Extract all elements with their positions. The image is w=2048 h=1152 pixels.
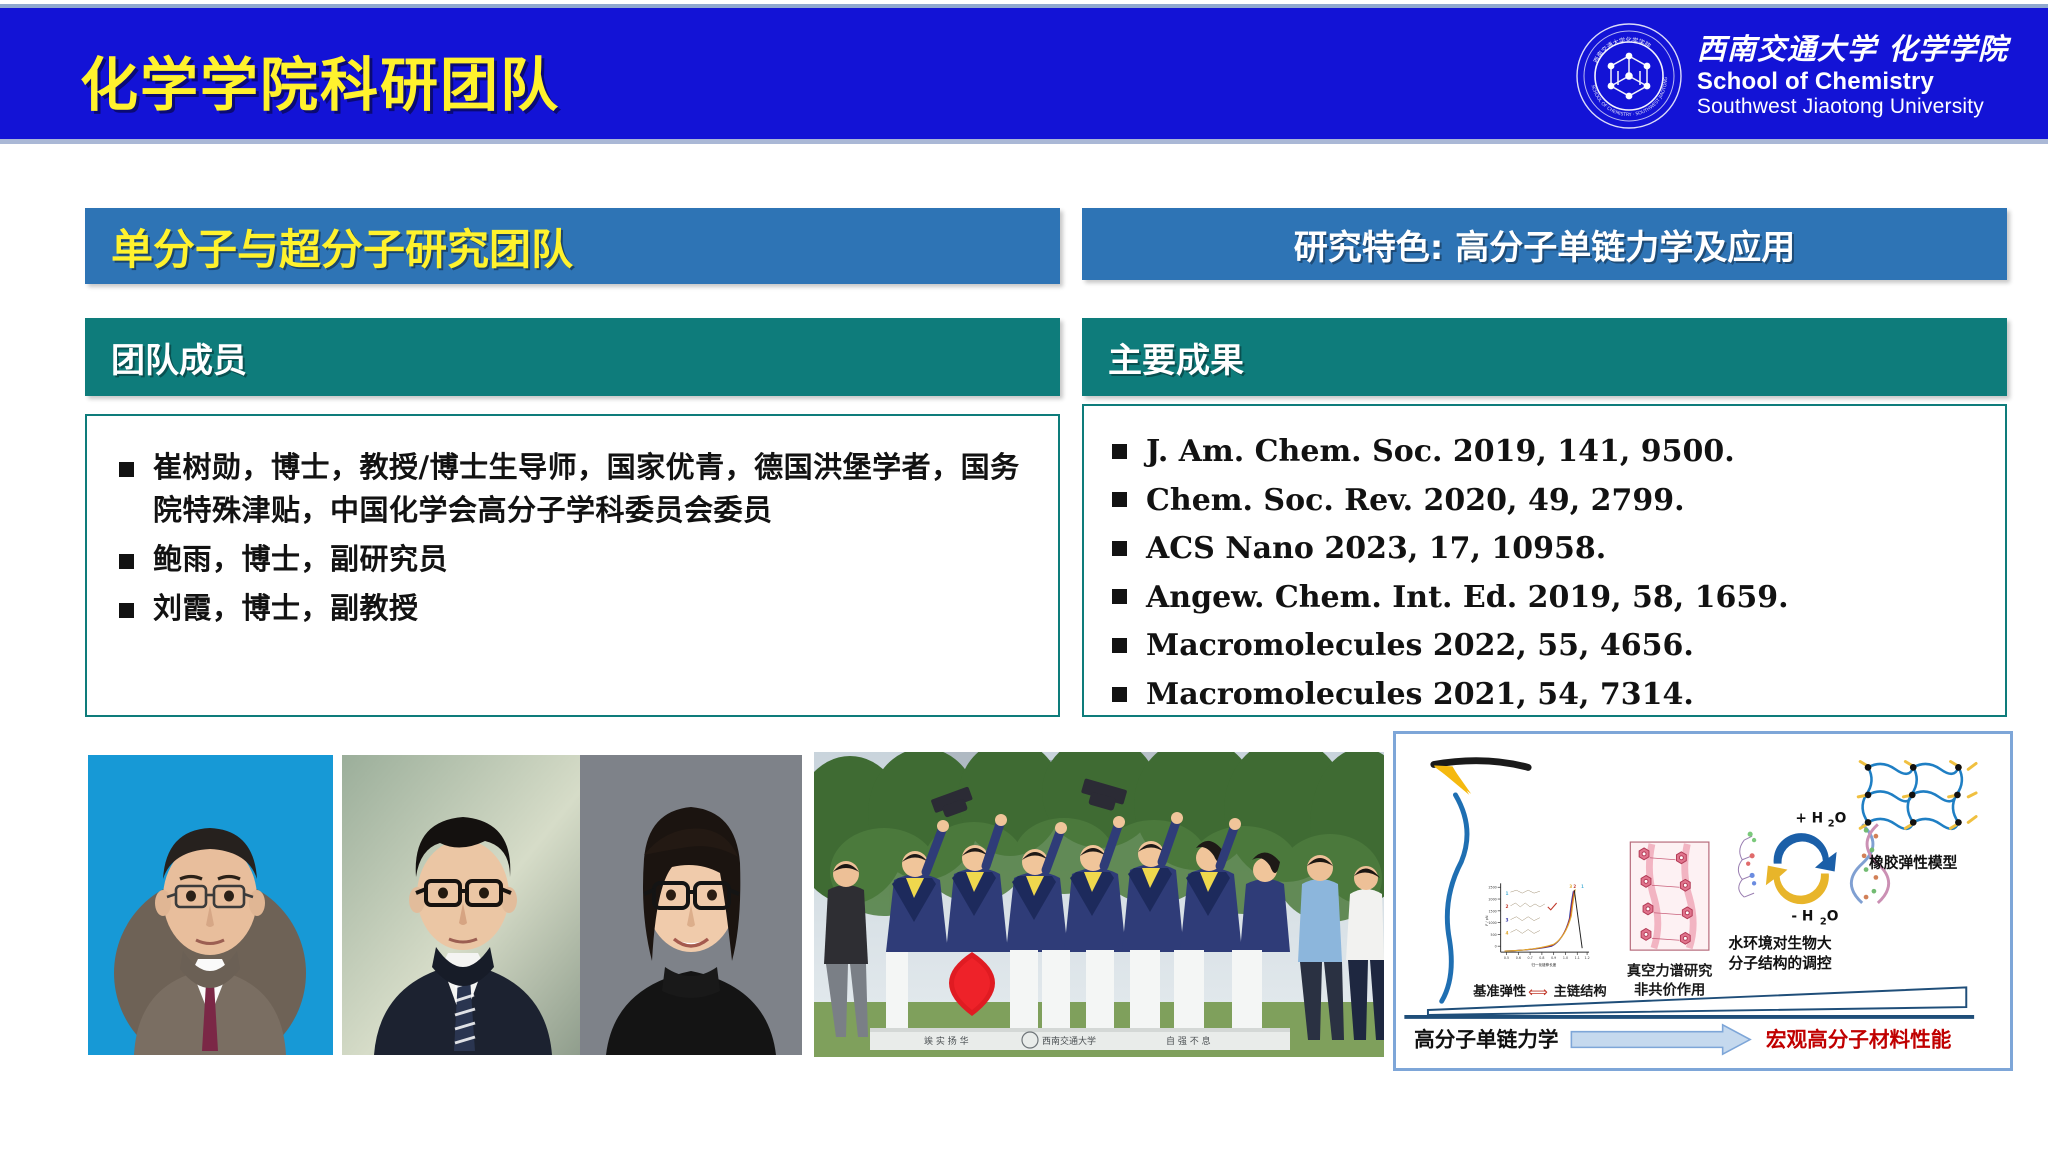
svg-text:1500: 1500 xyxy=(1488,909,1496,913)
portrait-liu-xia xyxy=(580,755,802,1055)
svg-text:F / pN: F / pN xyxy=(1485,915,1489,926)
label-arrow-sym: ⟺ xyxy=(1528,984,1548,1000)
results-header-label: 主要成果 xyxy=(1082,333,1244,382)
label-vacuum-line1: 真空力谱研究 xyxy=(1627,962,1712,980)
svg-text:3: 3 xyxy=(1569,884,1572,889)
publications-list: J. Am. Chem. Soc. 2019, 141, 9500. Chem.… xyxy=(1100,428,2005,720)
page-title: 化学学院科研团队 xyxy=(80,38,560,122)
svg-text:0: 0 xyxy=(1495,945,1497,949)
label-water-minus: - H xyxy=(1791,909,1813,925)
svg-text:2: 2 xyxy=(1828,818,1835,829)
members-header-label: 团队成员 xyxy=(85,333,247,382)
svg-text:2: 2 xyxy=(1820,917,1827,928)
label-rubber-model: 橡胶弹性模型 xyxy=(1869,854,1958,872)
svg-text:0.6: 0.6 xyxy=(1516,956,1521,960)
label-water-line2: 分子结构的调控 xyxy=(1729,954,1832,972)
svg-text:1000: 1000 xyxy=(1488,921,1496,925)
svg-text:0.5: 0.5 xyxy=(1504,956,1509,960)
label-backbone: 主链结构 xyxy=(1554,982,1607,999)
svg-text:O: O xyxy=(1835,810,1847,826)
team-title-label: 单分子与超分子研究团队 xyxy=(85,216,573,277)
logo-english-university: Southwest Jiaotong University xyxy=(1697,96,2008,118)
svg-text:SCHOOL OF CHEMISTRY · SOUTHWES: SCHOOL OF CHEMISTRY · SOUTHWEST JIAOTONG… xyxy=(1575,22,1669,118)
svg-text:1: 1 xyxy=(1506,891,1509,897)
list-item: Chem. Soc. Rev. 2020, 49, 2799. xyxy=(1100,477,2005,526)
label-water-line1: 水环境对生物大 xyxy=(1729,934,1832,952)
logo-english-school: School of Chemistry xyxy=(1697,69,2008,94)
svg-text:1.2: 1.2 xyxy=(1585,956,1590,960)
label-vacuum-line2: 非共价作用 xyxy=(1634,980,1705,998)
svg-text:0.7: 0.7 xyxy=(1528,956,1533,960)
svg-text:1.1: 1.1 xyxy=(1575,956,1580,960)
group-photo-graduation: 竢 实 扬 华 西南交通大学 自 强 不 息 xyxy=(814,752,1384,1057)
progression-arrow-icon xyxy=(1571,1025,1750,1054)
svg-text:2500: 2500 xyxy=(1488,886,1496,890)
svg-text:2: 2 xyxy=(1506,904,1509,910)
publications-panel: J. Am. Chem. Soc. 2019, 141, 9500. Chem.… xyxy=(1082,404,2007,717)
list-item: 崔树勋，博士，教授/博士生导师，国家优青，德国洪堡学者，国务院特殊津贴，中国化学… xyxy=(107,446,1036,532)
sign-motto-right: 自 强 不 息 xyxy=(1166,1035,1211,1047)
list-item: Angew. Chem. Int. Ed. 2019, 58, 1659. xyxy=(1100,574,2005,623)
members-header-bar: 团队成员 xyxy=(85,318,1060,396)
university-logo: 西南交通大学化学学院 SCHOOL OF CHEMISTRY · SOUTHWE… xyxy=(1575,22,2008,130)
list-item: 鲍雨，博士，副研究员 xyxy=(107,538,1036,581)
logo-chinese-name: 西南交通大学 化学学院 xyxy=(1697,34,2008,64)
team-members-panel: 崔树勋，博士，教授/博士生导师，国家优青，德国洪堡学者，国务院特殊津贴，中国化学… xyxy=(85,414,1060,717)
svg-text:1: 1 xyxy=(1581,884,1584,889)
results-header-bar: 主要成果 xyxy=(1082,318,2007,396)
svg-text:500: 500 xyxy=(1491,933,1497,937)
svg-text:3: 3 xyxy=(1506,918,1509,924)
page-banner: 化学学院科研团队 西南交通大学化 xyxy=(0,4,2048,144)
list-item: 刘霞，博士，副教授 xyxy=(107,587,1036,630)
sign-motto-left: 竢 实 扬 华 xyxy=(924,1035,969,1047)
portrait-bao-yu xyxy=(342,755,585,1055)
svg-text:归一化链伸长度: 归一化链伸长度 xyxy=(1532,962,1557,967)
list-item: J. Am. Chem. Soc. 2019, 141, 9500. xyxy=(1100,428,2005,477)
team-members-list: 崔树勋，博士，教授/博士生导师，国家优青，德国洪堡学者，国务院特殊津贴，中国化学… xyxy=(107,446,1036,630)
list-item: Macromolecules 2022, 55, 4656. xyxy=(1100,622,2005,671)
svg-text:4: 4 xyxy=(1506,930,1509,936)
research-feature-bar: 研究特色: 高分子单链力学及应用 xyxy=(1082,208,2007,280)
list-item: Macromolecules 2021, 54, 7314. xyxy=(1100,671,2005,720)
svg-text:0.8: 0.8 xyxy=(1539,956,1544,960)
svg-text:2: 2 xyxy=(1573,884,1576,889)
portrait-cui-shuxun xyxy=(88,755,333,1055)
label-water-plus: + H xyxy=(1795,810,1823,826)
swjtu-seal-icon: 西南交通大学化学学院 SCHOOL OF CHEMISTRY · SOUTHWE… xyxy=(1575,22,1683,130)
sign-motto-center: 西南交通大学 xyxy=(1042,1035,1096,1047)
diagram-footer-right: 宏观高分子材料性能 xyxy=(1766,1027,1952,1051)
label-baseline: 基准弹性 xyxy=(1472,982,1526,999)
svg-text:1.0: 1.0 xyxy=(1563,956,1568,960)
svg-text:O: O xyxy=(1827,909,1839,925)
svg-text:2000: 2000 xyxy=(1488,898,1496,902)
team-title-bar: 单分子与超分子研究团队 xyxy=(85,208,1060,284)
svg-text:0.9: 0.9 xyxy=(1551,956,1556,960)
research-diagram: 0500 10001500 20002500 0.50.60.7 0.80.91… xyxy=(1393,731,2013,1071)
diagram-footer-left: 高分子单链力学 xyxy=(1414,1027,1558,1051)
list-item: ACS Nano 2023, 17, 10958. xyxy=(1100,525,2005,574)
research-feature-label: 研究特色: 高分子单链力学及应用 xyxy=(1294,220,1795,269)
